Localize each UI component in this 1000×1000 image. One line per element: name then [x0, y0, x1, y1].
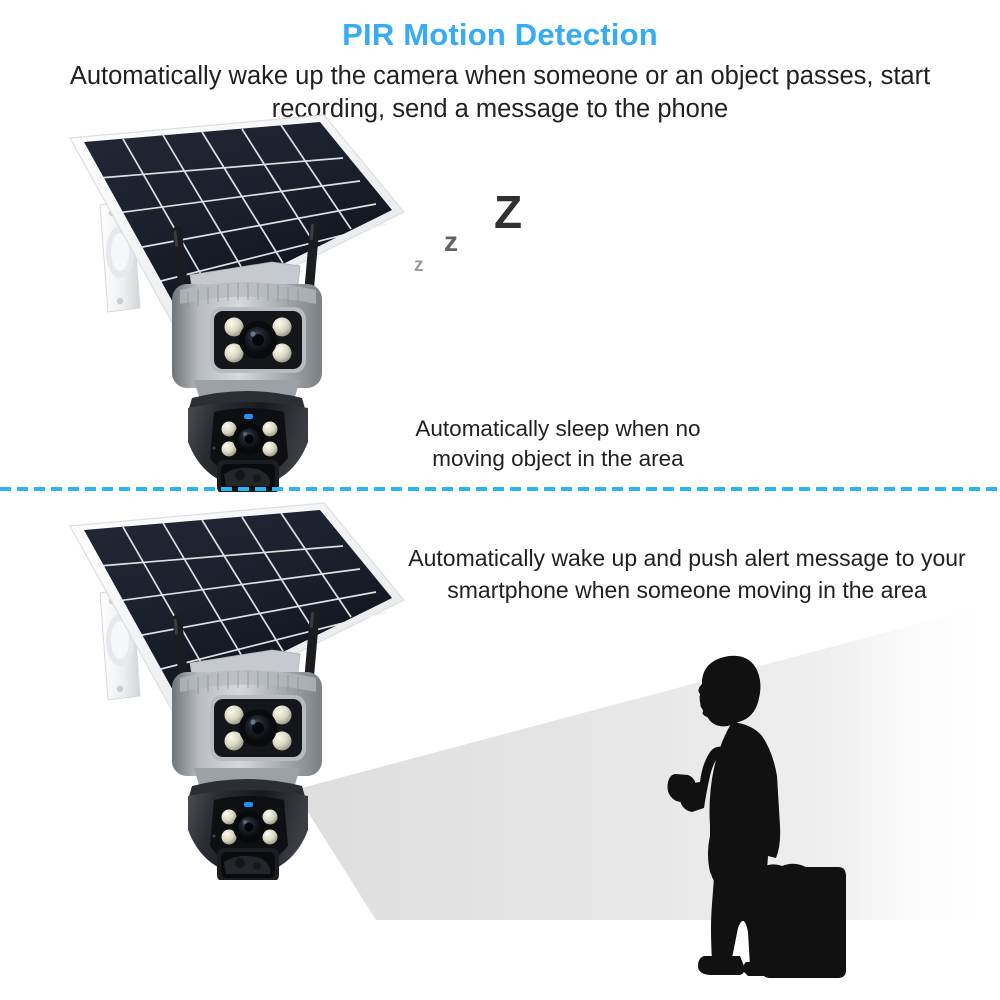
infographic-page: PIR Motion Detection Automatically wake … — [0, 0, 1000, 1000]
solar-ptz-camera-wake — [62, 500, 422, 880]
sleep-z-medium: z — [444, 226, 458, 258]
upper-camera-module — [172, 262, 322, 400]
lower-ptz-dome — [188, 779, 308, 880]
section-divider — [0, 487, 1000, 491]
solar-ptz-camera-sleep — [62, 112, 422, 492]
lower-ptz-dome — [188, 391, 308, 492]
briefcase — [762, 864, 846, 978]
sleep-z-large: Z — [494, 185, 522, 239]
upper-camera-module — [172, 650, 322, 788]
ir-led — [263, 422, 278, 437]
ir-led — [263, 442, 278, 457]
person-silhouette — [640, 640, 870, 995]
ir-led — [263, 830, 278, 845]
sleep-z-small: z — [414, 255, 424, 277]
page-title: PIR Motion Detection — [0, 17, 1000, 53]
sleep-mode-caption: Automatically sleep when no moving objec… — [388, 414, 728, 474]
status-indicator-led — [244, 414, 253, 419]
ir-led — [263, 810, 278, 825]
status-indicator-led — [244, 802, 253, 807]
